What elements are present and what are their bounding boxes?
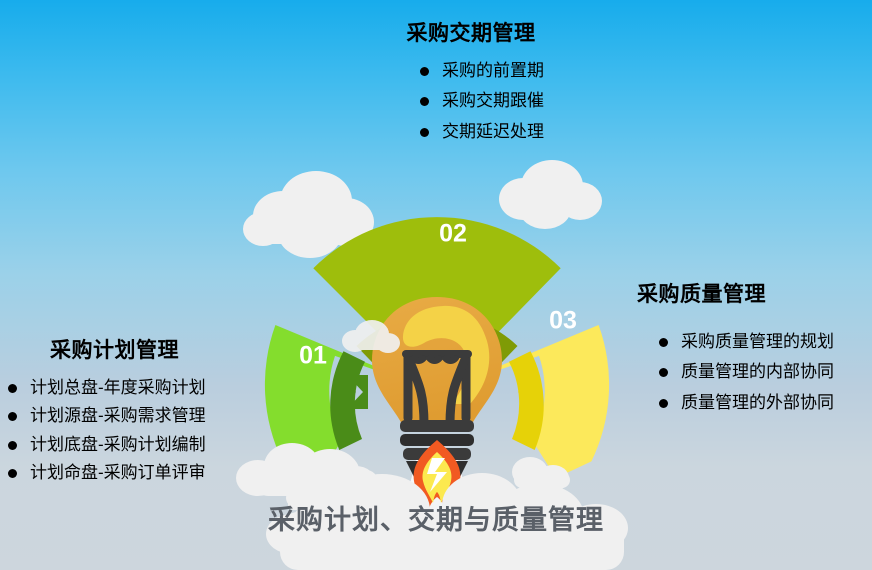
block-plan-list: 计划总盘-年度采购计划 计划源盘-采购需求管理 计划底盘-采购计划编制 计划命盘… <box>8 378 206 484</box>
block-plan-heading: 采购计划管理 <box>50 339 206 362</box>
infographic-canvas: 01 02 03 <box>0 0 872 570</box>
block-quality-heading: 采购质量管理 <box>637 283 834 306</box>
list-item: 采购的前置期 <box>420 61 544 81</box>
bullet-icon <box>8 469 17 478</box>
block-delivery-list: 采购的前置期 采购交期跟催 交期延迟处理 <box>420 61 544 142</box>
list-item-label: 交期延迟处理 <box>442 122 544 142</box>
list-item-label: 采购的前置期 <box>442 61 544 81</box>
list-item-label: 计划总盘-年度采购计划 <box>30 378 206 398</box>
list-item: 计划总盘-年度采购计划 <box>8 378 206 398</box>
list-item-label: 采购质量管理的规划 <box>681 332 834 352</box>
list-item-label: 计划源盘-采购需求管理 <box>30 406 206 426</box>
bullet-icon <box>8 441 17 450</box>
bullet-icon <box>420 67 429 76</box>
list-item: 交期延迟处理 <box>420 122 544 142</box>
list-item: 质量管理的内部协同 <box>659 362 834 382</box>
bullet-icon <box>659 399 668 408</box>
block-delivery-heading: 采购交期管理 <box>398 22 544 45</box>
block-quality-management: 采购质量管理 采购质量管理的规划 质量管理的内部协同 质量管理的外部协同 <box>637 283 834 423</box>
list-item-label: 质量管理的外部协同 <box>681 393 834 413</box>
list-item: 质量管理的外部协同 <box>659 393 834 413</box>
list-item-label: 计划底盘-采购计划编制 <box>30 435 206 455</box>
bullet-icon <box>420 128 429 137</box>
list-item: 计划源盘-采购需求管理 <box>8 406 206 426</box>
block-quality-list: 采购质量管理的规划 质量管理的内部协同 质量管理的外部协同 <box>659 332 834 413</box>
ring-segment-01-number: 01 <box>299 342 327 370</box>
list-item: 计划底盘-采购计划编制 <box>8 435 206 455</box>
bullet-icon <box>659 338 668 347</box>
list-item: 采购质量管理的规划 <box>659 332 834 352</box>
list-item: 计划命盘-采购订单评审 <box>8 463 206 483</box>
cloud-top-right <box>499 160 602 229</box>
ring-segment-03-number: 03 <box>549 307 577 335</box>
list-item-label: 质量管理的内部协同 <box>681 362 834 382</box>
list-item-label: 计划命盘-采购订单评审 <box>30 463 206 483</box>
bullet-icon <box>659 368 668 377</box>
page-title: 采购计划、交期与质量管理 <box>0 498 872 537</box>
bullet-icon <box>420 97 429 106</box>
bullet-icon <box>8 384 17 393</box>
list-item-label: 采购交期跟催 <box>442 91 544 111</box>
list-item: 采购交期跟催 <box>420 91 544 111</box>
block-plan-management: 采购计划管理 计划总盘-年度采购计划 计划源盘-采购需求管理 计划底盘-采购计划… <box>8 339 206 492</box>
block-delivery-management: 采购交期管理 采购的前置期 采购交期跟催 交期延迟处理 <box>398 22 544 152</box>
ring-segment-02-number: 02 <box>439 220 467 248</box>
bullet-icon <box>8 412 17 421</box>
